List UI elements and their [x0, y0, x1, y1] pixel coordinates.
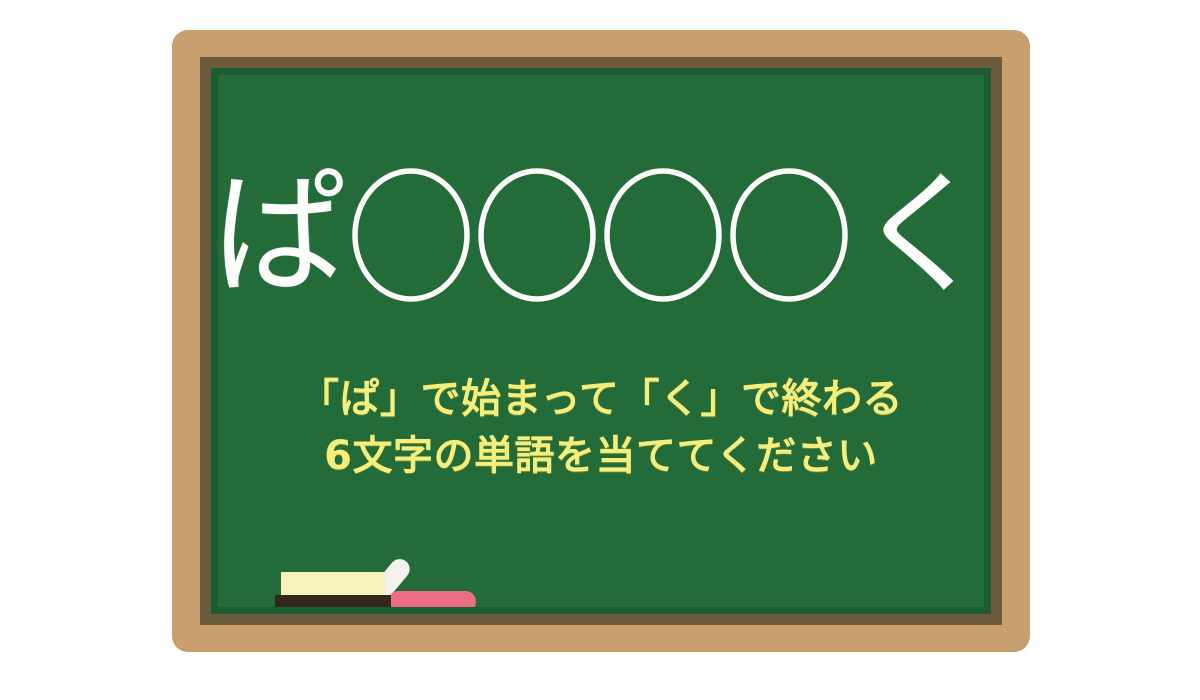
eraser-felt-icon: [281, 572, 385, 597]
puzzle-start-char: ぱ: [218, 168, 346, 302]
blackboard-wooden-frame: ぱ く: [172, 30, 1030, 652]
screenshot-root: ぱ く: [0, 0, 1200, 700]
eraser-body-icon[interactable]: [275, 595, 391, 607]
blank-slot-circle-3[interactable]: [600, 165, 726, 305]
pink-chalk-icon[interactable]: [388, 591, 476, 607]
chalk-tray-group: [275, 557, 485, 607]
puzzle-full-text: ぱ○○○○く: [218, 75, 219, 76]
blackboard-surface[interactable]: ぱ く: [218, 75, 984, 607]
puzzle-word-line: ぱ く: [218, 160, 984, 310]
blackboard-inner-bevel: ぱ く: [200, 57, 1002, 625]
blank-slot-circle-2[interactable]: [474, 165, 600, 305]
instruction-text: 「ぱ」で始まって「く」で終わる 6文字の単語を当ててください: [218, 371, 984, 485]
instruction-line-1: 「ぱ」で始まって「く」で終わる: [218, 371, 984, 428]
instruction-line-2: 6文字の単語を当ててください: [218, 428, 984, 485]
blackboard-dark-rim: ぱ く: [211, 68, 991, 614]
puzzle-end-char: く: [856, 168, 984, 302]
blank-slot-circle-4[interactable]: [726, 165, 852, 305]
blank-slot-circle-1[interactable]: [348, 165, 474, 305]
